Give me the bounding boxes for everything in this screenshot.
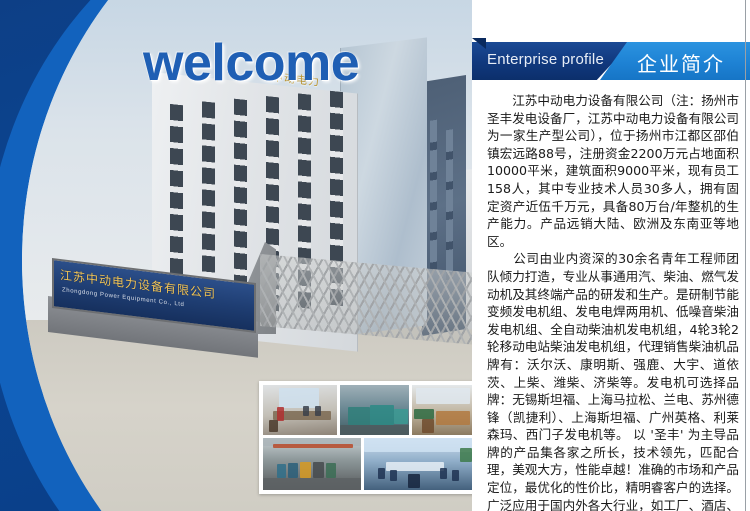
photo-generator-assembly-workshop: [340, 385, 410, 435]
right-edge-rule: [745, 0, 746, 511]
photo-open-plan-office: [412, 385, 472, 435]
photo-grid: [259, 381, 472, 494]
banner-title-chinese: 企业简介: [637, 48, 725, 77]
banner-title-english: Enterprise profile: [487, 51, 604, 68]
photo-generator-storage-warehouse: [263, 438, 361, 490]
photo-conference-room: [364, 438, 472, 490]
company-profile-banner: 中动电力 江苏中动电力设备有限公司 Zhongdong Power Equipm…: [0, 0, 750, 511]
photo-grid-top-row: [263, 385, 472, 435]
photo-grid-bottom-row: [263, 438, 472, 490]
profile-body-text: 江苏中动电力设备有限公司（注：扬州市圣丰发电设备厂，江苏中动电力设备有限公司为一…: [487, 92, 739, 511]
photo-office-meeting-room: [263, 385, 337, 435]
welcome-heading: welcome: [143, 33, 359, 93]
section-banner: Enterprise profile 企业简介: [472, 42, 750, 80]
profile-panel: Enterprise profile 企业简介 江苏中动电力设备有限公司（注：扬…: [472, 0, 750, 511]
hero-panel: 中动电力 江苏中动电力设备有限公司 Zhongdong Power Equipm…: [0, 0, 472, 511]
